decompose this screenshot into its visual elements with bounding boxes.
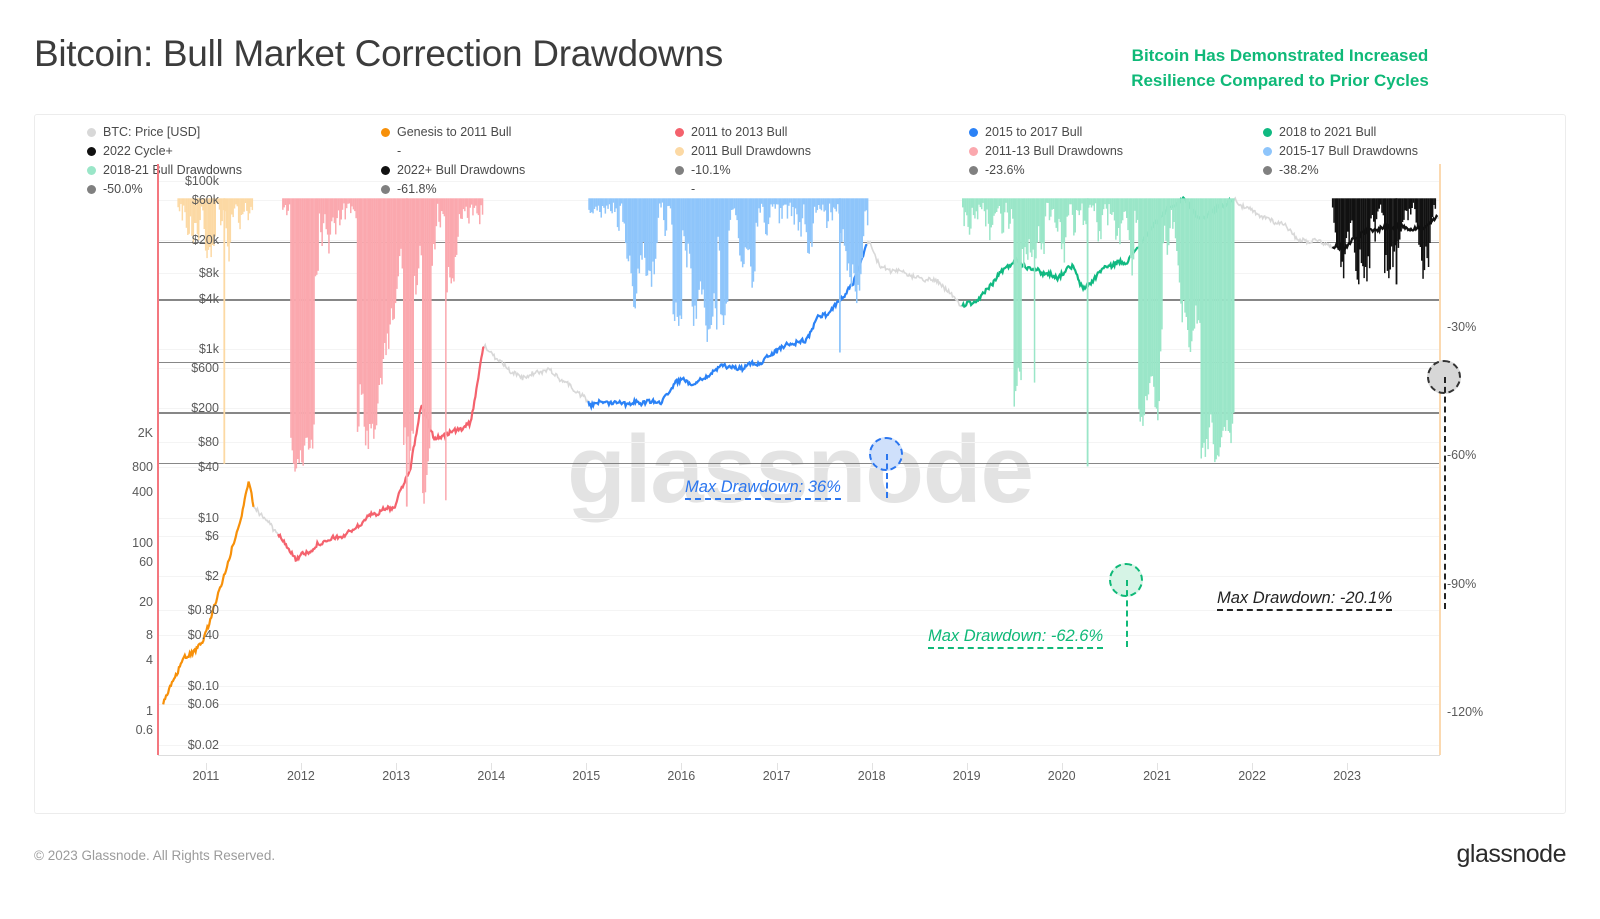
annotation-connector [1444,377,1446,609]
x-axis-labels: 2011201220132014201520162017201820192020… [158,763,1440,787]
legend-swatch-icon [969,147,978,156]
y-tick-price: $80 [198,435,219,449]
subtitle-line-1: Bitcoin Has Demonstrated Increased [1080,44,1480,69]
left-axis-rule [157,164,159,755]
annotation-label: Max Drawdown: -62.6% [928,627,1103,649]
chart-subtitle: Bitcoin Has Demonstrated Increased Resil… [1080,44,1480,93]
legend-swatch-icon [675,128,684,137]
y-tick-drawdown: -120% [1447,705,1483,719]
x-tick-label: 2015 [572,769,600,783]
legend-swatch-icon [1263,128,1272,137]
price-line-btc [163,198,1438,705]
chart-card: BTC: Price [USD]Genesis to 2011 Bull2011… [34,114,1566,814]
brand-logo: glassnode [1457,840,1566,869]
y-tick-price: $0.40 [188,628,219,642]
annotation-connector [1126,580,1128,647]
legend-item[interactable]: - [381,142,675,161]
legend-item-label: 2022 Cycle+ [103,142,173,161]
legend-swatch-icon [675,147,684,156]
legend-item-label: 2015 to 2017 Bull [985,123,1082,142]
y-tick-price: $600 [191,361,219,375]
max-drawdown-annotation: Max Drawdown: 36% [685,478,841,497]
legend-swatch-icon [381,147,390,156]
x-tick-label: 2021 [1143,769,1171,783]
y-tick-price: $0.10 [188,679,219,693]
y-tick-drawdown: -90% [1447,577,1476,591]
legend-item-label: BTC: Price [USD] [103,123,200,142]
plot-canvas [158,164,1439,755]
y-tick-price: $8k [199,266,219,280]
subtitle-line-2: Resilience Compared to Prior Cycles [1080,69,1480,94]
y-tick-price: $4k [199,292,219,306]
legend-swatch-icon [969,128,978,137]
drawdown-bars-2011-13 [282,198,483,506]
x-tick-label: 2011 [192,769,219,783]
y-tick-drawdown: -60% [1447,448,1476,462]
y-axis-drawdown-ticks: -30%-60%-90%-120% [1447,164,1507,755]
legend-item-label: 2011 to 2013 Bull [691,123,787,142]
y-tick-price: $0.06 [188,697,219,711]
y-tick-index: 400 [132,485,153,499]
y-tick-price: $200 [191,401,219,415]
annotation-label: Max Drawdown: 36% [685,478,841,500]
chart-page: Bitcoin: Bull Market Correction Drawdown… [0,0,1600,919]
legend-item[interactable]: 2011 to 2013 Bull [675,123,969,142]
legend-item-label: 2015-17 Bull Drawdowns [1279,142,1418,161]
legend-item[interactable]: 2011 Bull Drawdowns [675,142,969,161]
y-tick-index: 800 [132,460,153,474]
x-tick-label: 2022 [1238,769,1266,783]
legend-item[interactable]: 2015 to 2017 Bull [969,123,1263,142]
y-tick-price: $2 [205,569,219,583]
drawdown-bars-2022 [1332,198,1436,284]
page-title: Bitcoin: Bull Market Correction Drawdown… [34,33,723,75]
x-tick-label: 2018 [858,769,886,783]
legend-item-label: - [397,142,401,161]
y-tick-price: $10 [198,511,219,525]
annotation-label: Max Drawdown: -20.1% [1217,589,1392,611]
y-tick-index: 4 [146,653,153,667]
legend-swatch-icon [87,185,96,194]
legend-swatch-icon [87,147,96,156]
drawdown-bars-2018-21 [962,198,1235,466]
x-tick-label: 2014 [477,769,505,783]
legend-item[interactable]: 2011-13 Bull Drawdowns [969,142,1263,161]
y-tick-index: 2K [138,426,153,440]
y-tick-index: 60 [139,555,153,569]
y-tick-drawdown: -30% [1447,320,1476,334]
x-axis-rule [158,755,1440,756]
right-axis-rule [1439,164,1441,755]
legend-item[interactable]: Genesis to 2011 Bull [381,123,675,142]
y-tick-price: $1k [199,342,219,356]
x-tick-label: 2023 [1333,769,1361,783]
y-tick-index: 100 [132,536,153,550]
chart-svg [158,164,1439,755]
x-tick-label: 2020 [1048,769,1076,783]
legend-item[interactable]: 2022 Cycle+ [87,142,381,161]
y-tick-index: 0.6 [136,723,153,737]
plot-area [158,164,1439,755]
x-tick-label: 2016 [667,769,695,783]
legend-swatch-icon [1263,147,1272,156]
y-tick-price: $0.02 [188,738,219,752]
y-tick-price: $6 [205,529,219,543]
y-tick-price: $60k [192,193,219,207]
max-drawdown-annotation: Max Drawdown: -20.1% [1217,589,1392,608]
y-axis-price-ticks: $100k$60k$20k$8k$4k$1k$600$200$80$40$10$… [163,164,219,755]
legend-item-label: 2018 to 2021 Bull [1279,123,1376,142]
legend-item-label: Genesis to 2011 Bull [397,123,511,142]
legend-swatch-icon [87,128,96,137]
legend-item-label: 2011 Bull Drawdowns [691,142,811,161]
y-tick-price: $100k [185,174,219,188]
y-tick-index: 20 [139,595,153,609]
y-tick-price: $20k [192,233,219,247]
legend-swatch-icon [87,166,96,175]
annotation-connector [886,454,888,498]
x-tick-label: 2019 [953,769,981,783]
x-tick-label: 2012 [287,769,315,783]
copyright-text: © 2023 Glassnode. All Rights Reserved. [34,848,275,863]
x-tick-label: 2017 [763,769,791,783]
legend-item[interactable]: BTC: Price [USD] [87,123,381,142]
drawdown-bars-2015-17 [588,198,868,352]
legend-item[interactable]: 2015-17 Bull Drawdowns [1263,142,1557,161]
y-tick-index: 1 [146,704,153,718]
legend-swatch-icon [381,128,390,137]
max-drawdown-annotation: Max Drawdown: -62.6% [928,627,1103,646]
legend-item-label: 2011-13 Bull Drawdowns [985,142,1123,161]
y-axis-index-ticks: 2K80040010060208410.6 [101,164,153,755]
y-tick-price: $0.80 [188,603,219,617]
x-tick-label: 2013 [382,769,410,783]
legend-item[interactable]: 2018 to 2021 Bull [1263,123,1557,142]
y-tick-index: 8 [146,628,153,642]
y-tick-price: $40 [198,460,219,474]
